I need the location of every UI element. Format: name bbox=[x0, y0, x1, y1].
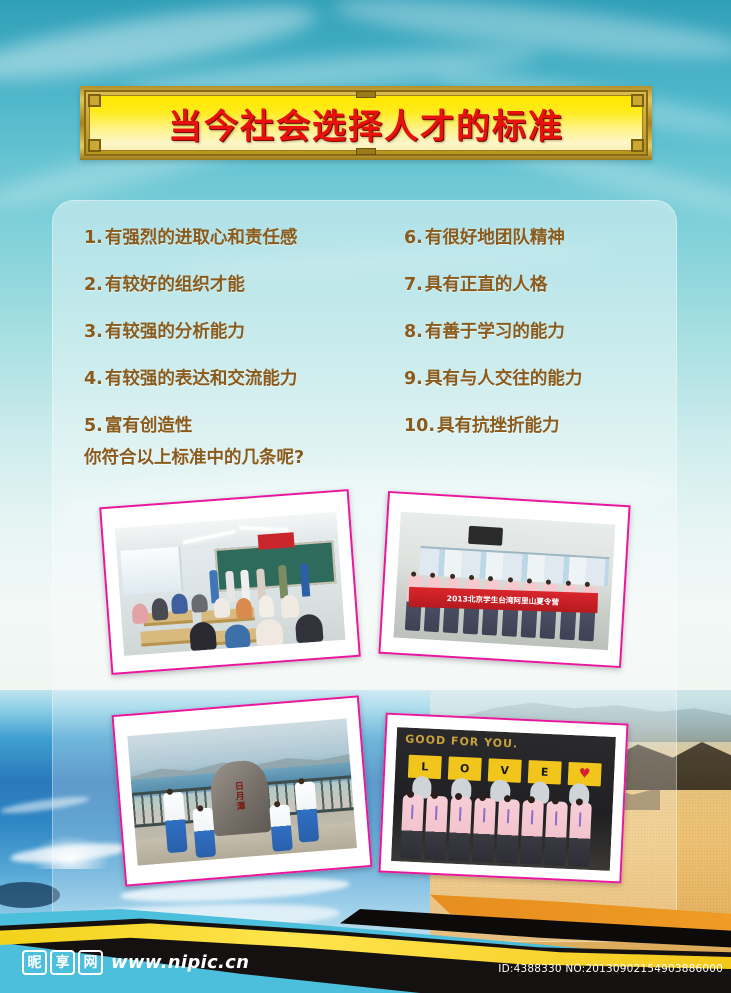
list-item: 9.具有与人交往的能力 bbox=[404, 365, 674, 390]
list-item: 6.有很好地团队精神 bbox=[404, 224, 674, 249]
list-item-label: 有善于学习的能力 bbox=[425, 322, 565, 342]
logo-char-3: 网 bbox=[78, 950, 103, 975]
list-item-number: 6. bbox=[404, 228, 423, 248]
photo-frame-border bbox=[378, 491, 630, 668]
list-item-label: 有较强的表达和交流能力 bbox=[105, 369, 298, 389]
list-item-label: 有较好的组织才能 bbox=[105, 275, 245, 295]
site-url[interactable]: www.nipic.cn bbox=[111, 952, 249, 973]
page-title: 当今社会选择人才的标准 bbox=[168, 99, 564, 148]
list-item-number: 8. bbox=[404, 322, 423, 342]
photo-frame-border bbox=[99, 489, 361, 675]
site-watermark[interactable]: 昵 享 网 www.nipic.cn bbox=[22, 950, 249, 975]
photo-classroom bbox=[99, 489, 361, 675]
list-item: 7.具有正直的人格 bbox=[404, 271, 674, 296]
list-item-number: 7. bbox=[404, 275, 423, 295]
list-item-label: 有很好地团队精神 bbox=[425, 228, 565, 248]
list-item-number: 3. bbox=[84, 322, 103, 342]
nipic-logo[interactable]: 昵 享 网 bbox=[22, 950, 103, 975]
footer-wave-band: 昵 享 网 www.nipic.cn ID:4388330 NO:2013090… bbox=[0, 873, 731, 993]
list-item-number: 2. bbox=[84, 275, 103, 295]
photo-frame-border bbox=[112, 695, 373, 886]
title-fill: 当今社会选择人才的标准 bbox=[89, 95, 643, 151]
list-item: 1.有强烈的进取心和责任感 bbox=[84, 224, 384, 249]
list-item-label: 具有与人交往的能力 bbox=[425, 369, 583, 389]
list-item-label: 富有创造性 bbox=[105, 416, 193, 436]
criteria-column-right: 6.有很好地团队精神 7.具有正直的人格 8.有善于学习的能力 9.具有与人交往… bbox=[404, 224, 674, 459]
list-item-label: 有强烈的进取心和责任感 bbox=[105, 228, 298, 248]
list-item: 8.有善于学习的能力 bbox=[404, 318, 674, 343]
criteria-column-left: 1.有强烈的进取心和责任感 2.有较好的组织才能 3.有较强的分析能力 4.有较… bbox=[84, 224, 384, 459]
frame-corner-ornament bbox=[631, 94, 644, 107]
frame-corner-ornament bbox=[631, 139, 644, 152]
list-item: 4.有较强的表达和交流能力 bbox=[84, 365, 384, 390]
list-item-number: 5. bbox=[84, 416, 103, 436]
list-item: 5.富有创造性 bbox=[84, 412, 384, 437]
list-item-number: 1. bbox=[84, 228, 103, 248]
frame-corner-ornament bbox=[88, 94, 101, 107]
frame-corner-ornament bbox=[88, 139, 101, 152]
closing-question: 你符合以上标准中的几条呢? bbox=[84, 444, 304, 469]
logo-char-2: 享 bbox=[50, 950, 75, 975]
list-item-number: 4. bbox=[84, 369, 103, 389]
frame-edge-ornament bbox=[356, 91, 376, 98]
list-item-label: 具有抗挫折能力 bbox=[437, 416, 560, 436]
photo-summer-camp-banner: 2013北京学生台湾阿里山夏令营 bbox=[378, 491, 630, 668]
photo-frame-border bbox=[378, 713, 628, 884]
asset-id-text: ID:4388330 NO:20130902154903886000 bbox=[498, 963, 723, 975]
list-item: 10.具有抗挫折能力 bbox=[404, 412, 674, 437]
list-item-number: 10. bbox=[404, 416, 435, 436]
photo-love-wall: GOOD FOR YOU. L O V E ♥ bbox=[378, 713, 628, 884]
list-item-label: 具有正直的人格 bbox=[425, 275, 548, 295]
title-banner: 当今社会选择人才的标准 bbox=[80, 86, 652, 160]
photo-sun-moon-lake: 日 月 潭 bbox=[112, 695, 373, 886]
frame-edge-ornament bbox=[356, 148, 376, 155]
logo-char-1: 昵 bbox=[22, 950, 47, 975]
list-item-label: 有较强的分析能力 bbox=[105, 322, 245, 342]
poster-canvas: 当今社会选择人才的标准 1.有强烈的进取心和责任感 2.有较好的组织才能 3.有… bbox=[0, 0, 731, 993]
title-ornate-frame: 当今社会选择人才的标准 bbox=[84, 90, 648, 156]
list-item: 2.有较好的组织才能 bbox=[84, 271, 384, 296]
list-item-number: 9. bbox=[404, 369, 423, 389]
list-item: 3.有较强的分析能力 bbox=[84, 318, 384, 343]
